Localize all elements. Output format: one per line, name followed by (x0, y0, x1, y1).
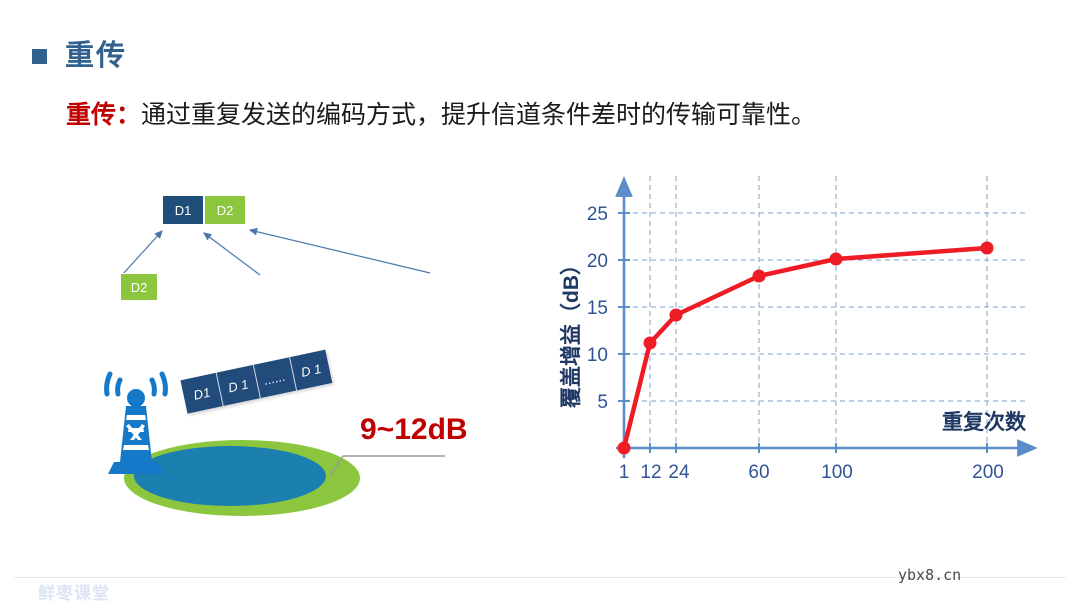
chart-ytick-label: 15 (587, 298, 608, 319)
footer-watermark: 鲜枣课堂 (38, 579, 110, 604)
chart-ytick-label: 25 (587, 204, 608, 225)
bullet-square-icon (32, 49, 47, 64)
chart-xtick-label: 12 (640, 462, 661, 483)
chart-data-point (753, 270, 766, 283)
chart-grid-vertical (650, 176, 987, 448)
chart-data-point (644, 337, 657, 350)
chart-data-point (830, 253, 843, 266)
merged-block-d1: D1 (162, 195, 204, 225)
chart-y-axis-title: 覆盖增益（dB） (559, 254, 583, 408)
body-keyword: 重传 (66, 101, 116, 129)
coverage-gain-chart: 5 10 15 20 25 1 12 24 60 100 200 覆盖增益（dB… (556, 166, 1056, 496)
chart-xtick-label: 24 (668, 462, 690, 483)
chart-svg: 5 10 15 20 25 1 12 24 60 100 200 覆盖增益（dB… (556, 166, 1056, 496)
chart-data-point (981, 242, 994, 255)
footer-url: ybx8.cn (898, 566, 961, 584)
chart-data-point (618, 442, 631, 455)
page-title: 重传 (65, 42, 127, 71)
chart-grid-horizontal (624, 213, 1026, 401)
chart-data-markers (618, 242, 994, 455)
chart-x-axis-title: 重复次数 (942, 410, 1027, 434)
merged-block-d2: D2 (204, 195, 246, 225)
body-colon: ： (116, 101, 141, 129)
slide-title-row: 重传 (32, 42, 127, 71)
body-text: 通过重复发送的编码方式，提升信道条件差时的传输可靠性。 (141, 101, 816, 129)
chart-ytick-label: 20 (587, 251, 608, 272)
gain-value-label: 9~12dB (360, 413, 468, 447)
chart-data-point (670, 309, 683, 322)
arrow-middle (204, 233, 260, 275)
body-paragraph: 重传：通过重复发送的编码方式，提升信道条件差时的传输可靠性。 (66, 99, 816, 133)
source-block: D2 (120, 273, 158, 301)
merged-block-row: D1D2 (162, 195, 246, 225)
repetition-diagram: D1D2 D1 D1 D1 D1 D2 D2 D2 D2 (100, 185, 480, 315)
arrow-right (250, 230, 430, 273)
chart-xtick-label: 60 (748, 462, 769, 483)
chart-xtick-label: 1 (619, 462, 630, 483)
arrow-left (122, 231, 162, 275)
coverage-inner-ellipse (134, 446, 326, 506)
chart-ytick-label: 5 (597, 392, 608, 413)
chart-xtick-label: 200 (972, 462, 1004, 483)
chart-data-line (624, 248, 987, 448)
chart-ytick-label: 10 (587, 345, 608, 366)
coverage-illustration: D1 D 1 ...... D 1 9~12dB (90, 358, 490, 518)
chart-xtick-label: 100 (821, 462, 853, 483)
